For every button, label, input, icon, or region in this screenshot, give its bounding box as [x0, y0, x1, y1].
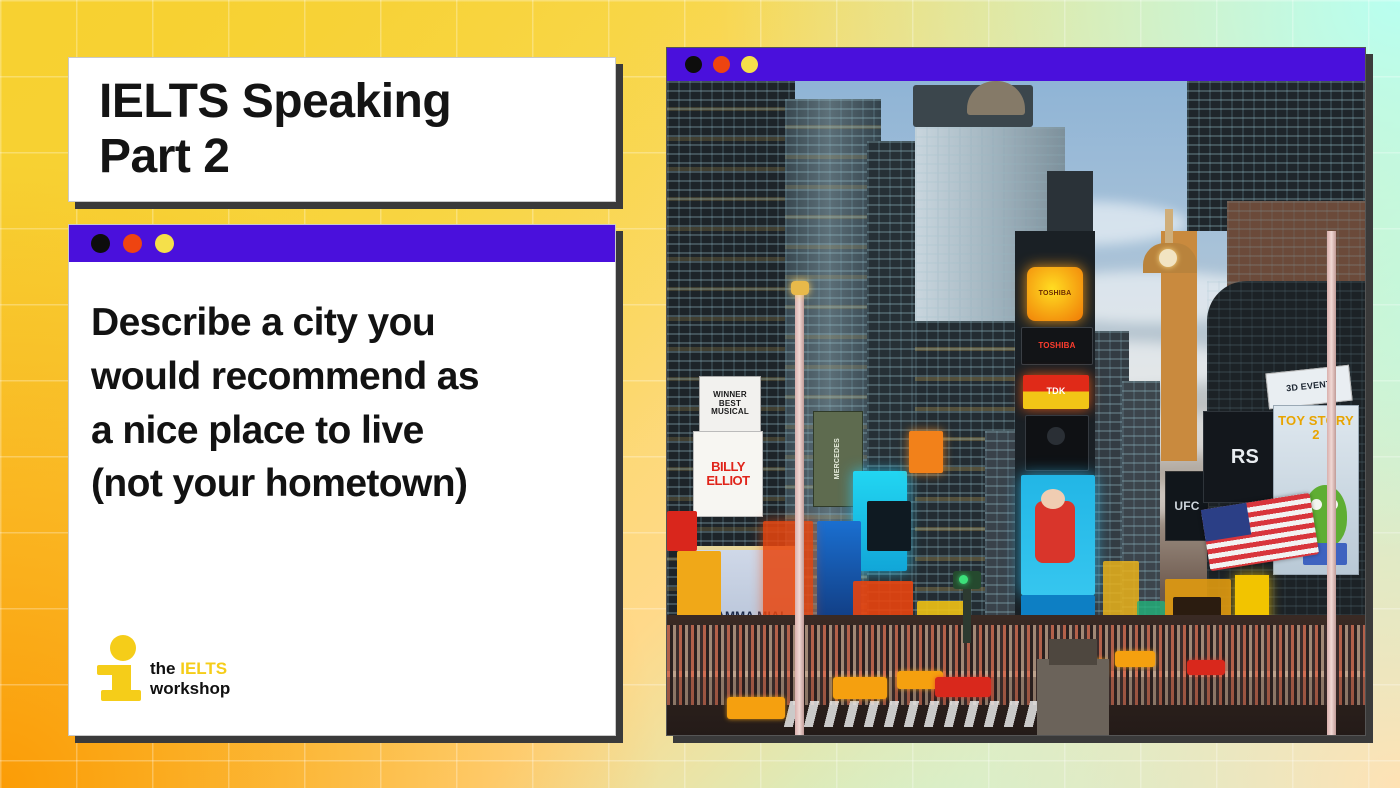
times-square-photo: TOSHIBA TOSHIBA TDK WINNER BEST MUSICAL … — [667, 81, 1365, 735]
minimize-dot[interactable] — [713, 56, 730, 73]
question-card-titlebar — [69, 225, 615, 262]
logo-the: the — [150, 659, 180, 678]
title-card: IELTS Speaking Part 2 — [68, 57, 616, 202]
light-pole-right — [1327, 231, 1336, 735]
brand-logo: the IELTS workshop — [97, 635, 230, 701]
logo-workshop: workshop — [150, 679, 230, 699]
logo-ielts: IELTS — [180, 659, 227, 678]
page-title: IELTS Speaking Part 2 — [69, 75, 451, 184]
minimize-dot[interactable] — [123, 234, 142, 253]
billboard-winner-best-musical: WINNER BEST MUSICAL — [699, 376, 761, 432]
photo-card-titlebar — [667, 48, 1365, 81]
logo-i-icon — [97, 635, 141, 701]
maximize-dot[interactable] — [741, 56, 758, 73]
close-dot[interactable] — [91, 234, 110, 253]
light-pole-left — [795, 291, 804, 735]
question-card: Describe a city you would recommend as a… — [68, 224, 616, 736]
photo-card: TOSHIBA TOSHIBA TDK WINNER BEST MUSICAL … — [666, 47, 1366, 736]
billboard-toshiba-banner: TOSHIBA — [1021, 327, 1093, 365]
billboard-billy-elliot: BILLY ELLIOT — [693, 431, 763, 517]
close-dot[interactable] — [685, 56, 702, 73]
billboard-tdk: TDK — [1023, 375, 1089, 409]
question-text: Describe a city you would recommend as a… — [91, 296, 593, 511]
billboard-toshiba-globe: TOSHIBA — [1027, 267, 1083, 321]
maximize-dot[interactable] — [155, 234, 174, 253]
question-card-body: Describe a city you would recommend as a… — [69, 262, 615, 735]
logo-wordmark: the IELTS workshop — [150, 659, 230, 701]
